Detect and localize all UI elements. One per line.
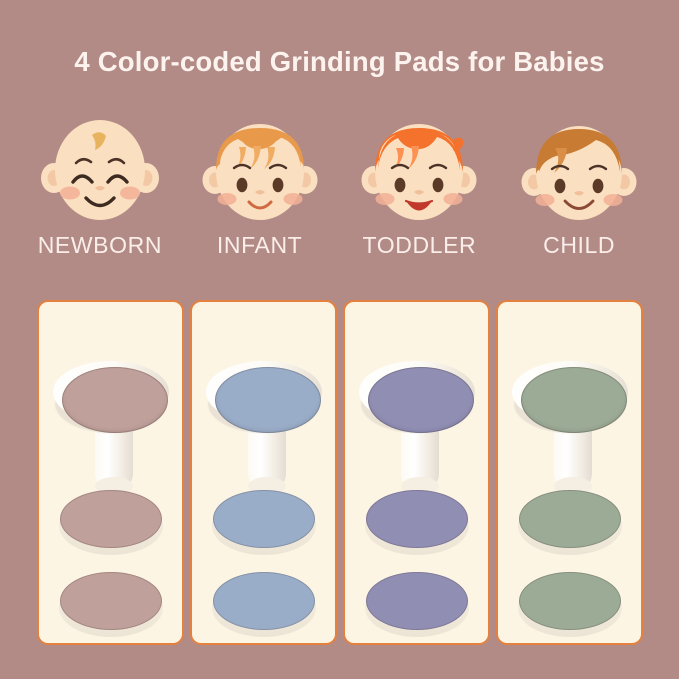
newborn-baby-face-icon — [35, 112, 165, 230]
grinding-handle-newborn — [49, 335, 173, 505]
grinding-pad-spare-2 — [212, 572, 316, 634]
grinding-pad-mounted — [215, 367, 321, 433]
stage-faces-row: NEWBORN — [20, 112, 659, 267]
page-title: 4 Color-coded Grinding Pads for Babies — [0, 46, 679, 78]
pad-surface — [60, 572, 162, 630]
grinding-pad-mounted — [62, 367, 168, 433]
grinding-handle-infant — [202, 335, 326, 505]
pad-surface — [213, 490, 315, 548]
handle-cap — [206, 361, 322, 423]
grinding-pad-spare-1 — [518, 490, 622, 552]
stage-column-toddler: TODDLER — [340, 112, 500, 267]
grinding-pad-spare-2 — [59, 572, 163, 634]
stage-column-newborn: NEWBORN — [20, 112, 180, 267]
grinding-pad-spare-2 — [365, 572, 469, 634]
handle-cap — [512, 361, 628, 423]
grinding-pad-mounted — [368, 367, 474, 433]
stage-column-child: CHILD — [499, 112, 659, 267]
product-card-toddler[interactable] — [343, 300, 490, 645]
grinding-pad-spare-1 — [365, 490, 469, 552]
pad-surface — [366, 490, 468, 548]
product-card-infant[interactable] — [190, 300, 337, 645]
stage-label-newborn: NEWBORN — [20, 232, 180, 259]
grinding-pad-spare-1 — [212, 490, 316, 552]
stage-label-infant: INFANT — [180, 232, 340, 259]
infant-baby-face-icon — [195, 112, 325, 230]
infographic-poster: 4 Color-coded Grinding Pads for Babies — [0, 0, 679, 679]
pad-surface — [519, 490, 621, 548]
pad-surface — [213, 572, 315, 630]
grinding-pad-spare-1 — [59, 490, 163, 552]
product-card-child[interactable] — [496, 300, 643, 645]
stage-column-infant: INFANT — [180, 112, 340, 267]
stage-label-child: CHILD — [499, 232, 659, 259]
toddler-face-icon — [354, 112, 484, 230]
pad-surface — [60, 490, 162, 548]
grinding-handle-toddler — [355, 335, 479, 505]
product-cards-row — [37, 300, 643, 645]
grinding-pad-mounted — [521, 367, 627, 433]
pad-surface — [519, 572, 621, 630]
grinding-pad-spare-2 — [518, 572, 622, 634]
pad-surface — [366, 572, 468, 630]
handle-cap — [53, 361, 169, 423]
stage-label-toddler: TODDLER — [340, 232, 500, 259]
handle-cap — [359, 361, 475, 423]
grinding-handle-child — [508, 335, 632, 505]
child-face-icon — [514, 112, 644, 230]
product-card-newborn[interactable] — [37, 300, 184, 645]
